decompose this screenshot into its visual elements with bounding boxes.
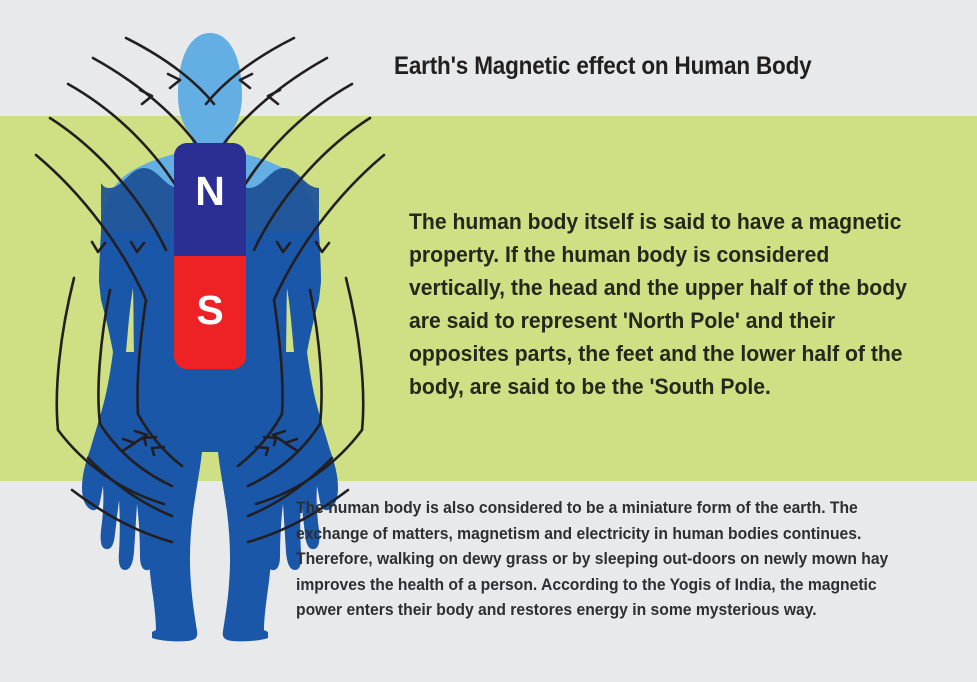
magnet-north-pole: N <box>174 143 246 256</box>
bar-magnet: N S <box>174 143 246 369</box>
page-title: Earth's Magnetic effect on Human Body <box>394 52 862 81</box>
magnet-south-label: S <box>196 287 223 334</box>
magnet-south-pole: S <box>174 256 246 369</box>
infographic-canvas: N S Earth's Magnetic effect on Human Bod… <box>0 0 977 682</box>
field-arrow <box>140 74 180 104</box>
field-arrow <box>240 74 280 104</box>
footer-paragraph: The human body is also considered to be … <box>296 496 918 624</box>
main-paragraph: The human body itself is said to have a … <box>409 205 921 403</box>
magnet-north-label: N <box>195 168 225 215</box>
